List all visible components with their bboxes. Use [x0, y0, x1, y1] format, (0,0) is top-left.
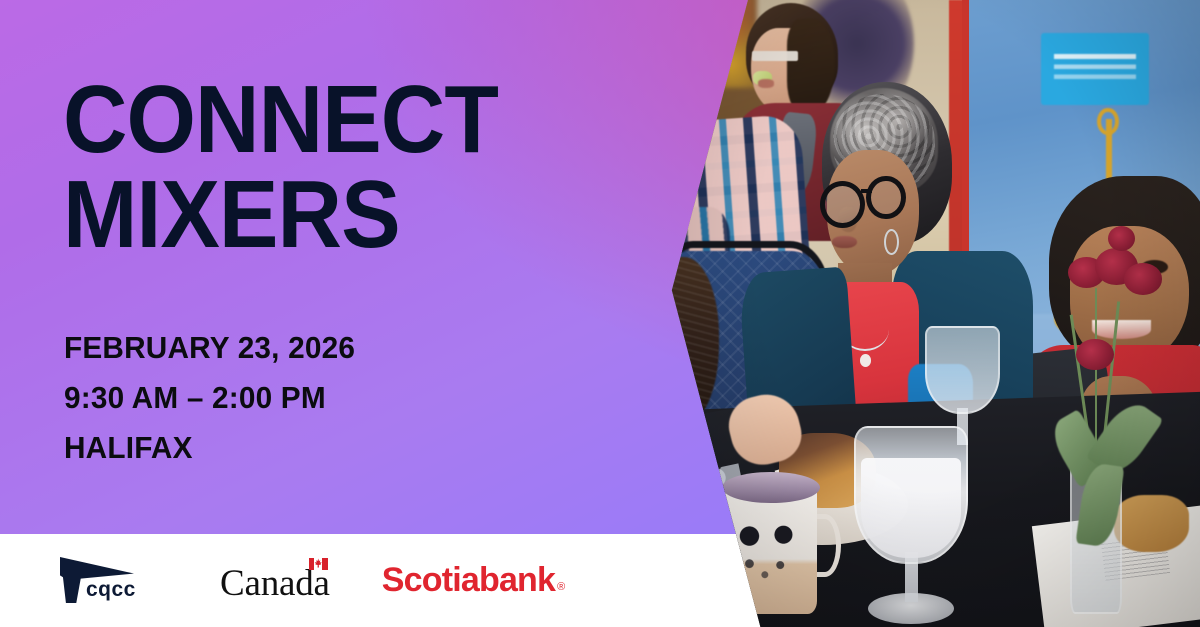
photo-water-in-glass — [861, 458, 961, 558]
photo-pastry-right — [1114, 495, 1190, 551]
maple-leaf-icon — [315, 559, 322, 568]
photo-water-glass-back — [925, 326, 1001, 414]
photo-scene — [660, 0, 1200, 627]
photo-person-center-shirt-button — [860, 354, 871, 367]
event-photo — [660, 0, 1200, 627]
event-location: HALIFAX — [64, 423, 563, 473]
event-details: FEBRUARY 23, 2026 9:30 AM – 2:00 PM HALI… — [64, 323, 563, 474]
photo-person-right-smile — [1092, 320, 1151, 339]
photo-person-center-eyeglass-left — [820, 181, 865, 229]
photo-flower-bloom — [1108, 226, 1135, 251]
logo-canada: Canada — [220, 558, 330, 602]
cqcc-wordmark: cqcc — [86, 578, 136, 602]
photo-person-background-glasses — [752, 51, 798, 60]
photo-person-center-eyeglass-bridge — [861, 189, 872, 193]
photo-person-center-lips — [832, 236, 857, 249]
photo-background-info-label — [1041, 33, 1149, 105]
sponsor-logo-row: cqcc Canada Scotiabank ® — [60, 552, 565, 608]
page-title: CONNECT MIXERS — [63, 72, 584, 262]
photo-flower-bloom — [1124, 263, 1162, 294]
photo-person-background-mouth — [758, 79, 774, 88]
registered-trademark-icon: ® — [557, 581, 565, 593]
title-line-2: MIXERS — [63, 167, 584, 262]
title-line-1: CONNECT — [63, 72, 584, 167]
event-time: 9:30 AM – 2:00 PM — [64, 373, 563, 423]
logo-scotiabank: Scotiabank ® — [382, 563, 566, 597]
event-date: FEBRUARY 23, 2026 — [64, 323, 563, 373]
event-banner: CONNECT MIXERS FEBRUARY 23, 2026 9:30 AM… — [0, 0, 1200, 627]
photo-flower-bloom — [1076, 339, 1114, 370]
scotiabank-wordmark: Scotiabank — [382, 563, 555, 597]
logo-cqcc: cqcc — [60, 555, 168, 605]
canada-flag-icon — [308, 557, 329, 569]
canada-wordmark: Canada — [220, 565, 330, 602]
